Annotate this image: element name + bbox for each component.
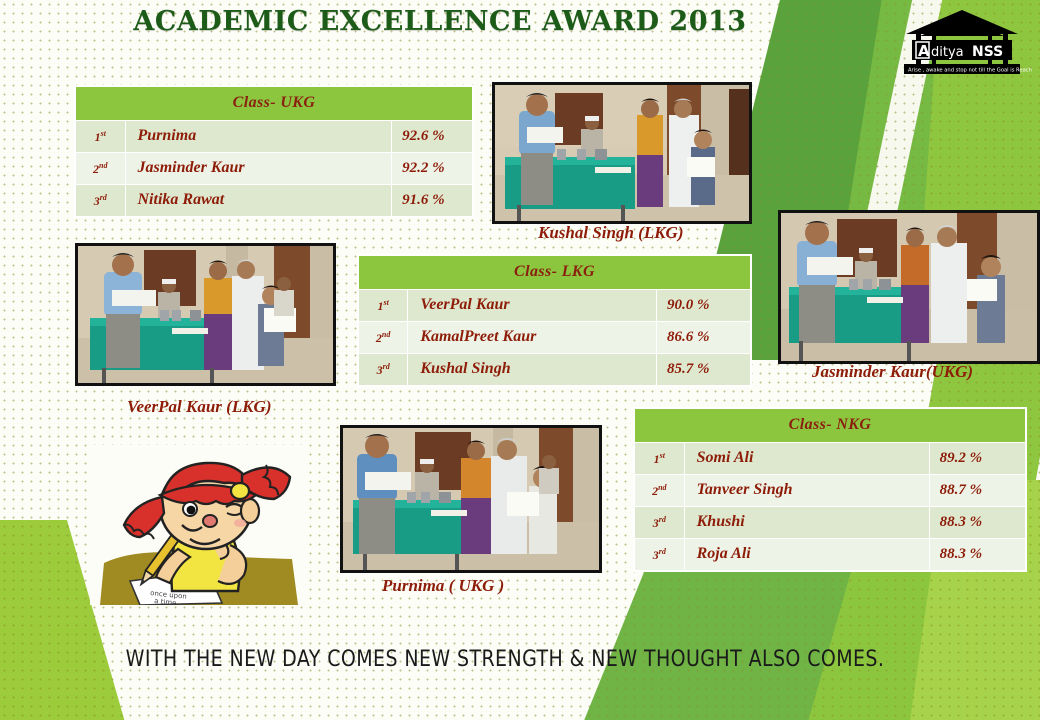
table-header-row: Class- NKG: [635, 409, 1026, 443]
photo-kushal-singh: [492, 82, 752, 224]
photo-veerpal-kaur: [75, 243, 336, 386]
caption-kushal-singh: Kushal Singh (LKG): [538, 223, 684, 243]
name-cell: KamalPreet Kaur: [408, 322, 657, 354]
table-row: 2nd Tanveer Singh 88.7 %: [635, 475, 1026, 507]
caption-jasminder-kaur: Jasminder Kaur(UKG): [812, 362, 973, 382]
table-row: 1st VeerPal Kaur 90.0 %: [359, 290, 751, 322]
rank-cell: 2nd: [359, 322, 408, 354]
percent-cell: 85.7 %: [656, 354, 750, 386]
footer-quote: WITH THE NEW DAY COMES NEW STRENGTH & NE…: [0, 646, 1010, 671]
table-header-ukg: Class- UKG: [76, 87, 473, 121]
table-row: 1st Somi Ali 89.2 %: [635, 443, 1026, 475]
poster-canvas: ACADEMIC EXCELLENCE AWARD 2013 A ditya N…: [0, 0, 1040, 720]
rank-cell: 2nd: [76, 153, 126, 185]
caption-veerpal-kaur: VeerPal Kaur (LKG): [127, 397, 272, 417]
table-row: 1st Purnima 92.6 %: [76, 121, 473, 153]
table-header-lkg: Class- LKG: [359, 256, 751, 290]
aditya-nss-logo: A ditya NSS Arise , awake and stop not t…: [892, 4, 1032, 80]
percent-cell: 88.3 %: [929, 539, 1025, 571]
page-title: ACADEMIC EXCELLENCE AWARD 2013: [0, 6, 880, 37]
table-header-row: Class- UKG: [76, 87, 473, 121]
percent-cell: 91.6 %: [392, 185, 473, 217]
table-header-nkg: Class- NKG: [635, 409, 1026, 443]
percent-cell: 86.6 %: [656, 322, 750, 354]
rank-cell: 3rd: [76, 185, 126, 217]
name-cell: Jasminder Kaur: [125, 153, 392, 185]
table-row: 3rd Roja Ali 88.3 %: [635, 539, 1026, 571]
girl-writing-clipart: once upon a time: [90, 445, 308, 605]
table-row: 3rd Khushi 88.3 %: [635, 507, 1026, 539]
table-header-row: Class- LKG: [359, 256, 751, 290]
name-cell: Khushi: [684, 507, 929, 539]
table-class-ukg: Class- UKG 1st Purnima 92.6 % 2nd Jasmin…: [75, 86, 473, 217]
svg-text:NSS: NSS: [972, 44, 1003, 60]
table-row: 3rd Kushal Singh 85.7 %: [359, 354, 751, 386]
table-class-nkg: Class- NKG 1st Somi Ali 89.2 % 2nd Tanve…: [634, 408, 1026, 571]
name-cell: Nitika Rawat: [125, 185, 392, 217]
percent-cell: 90.0 %: [656, 290, 750, 322]
name-cell: Somi Ali: [684, 443, 929, 475]
table-row: 2nd KamalPreet Kaur 86.6 %: [359, 322, 751, 354]
caption-purnima: Purnima ( UKG ): [382, 576, 504, 596]
percent-cell: 89.2 %: [929, 443, 1025, 475]
rank-cell: 3rd: [359, 354, 408, 386]
rank-cell: 1st: [635, 443, 685, 475]
table-row: 3rd Nitika Rawat 91.6 %: [76, 185, 473, 217]
svg-text:a time: a time: [154, 597, 177, 605]
svg-text:ditya: ditya: [931, 45, 964, 60]
name-cell: VeerPal Kaur: [408, 290, 657, 322]
rank-cell: 1st: [359, 290, 408, 322]
photo-jasminder-kaur: [778, 210, 1040, 364]
name-cell: Kushal Singh: [408, 354, 657, 386]
name-cell: Roja Ali: [684, 539, 929, 571]
rank-cell: 1st: [76, 121, 126, 153]
percent-cell: 92.2 %: [392, 153, 473, 185]
rank-cell: 3rd: [635, 539, 685, 571]
percent-cell: 88.7 %: [929, 475, 1025, 507]
photo-purnima: [340, 425, 602, 573]
svg-text:A: A: [918, 42, 930, 60]
rank-cell: 2nd: [635, 475, 685, 507]
table-class-lkg: Class- LKG 1st VeerPal Kaur 90.0 % 2nd K…: [358, 255, 751, 386]
table-row: 2nd Jasminder Kaur 92.2 %: [76, 153, 473, 185]
name-cell: Tanveer Singh: [684, 475, 929, 507]
svg-text:Arise , awake and stop not til: Arise , awake and stop not till the Goal…: [908, 68, 1032, 74]
percent-cell: 92.6 %: [392, 121, 473, 153]
rank-cell: 3rd: [635, 507, 685, 539]
name-cell: Purnima: [125, 121, 392, 153]
percent-cell: 88.3 %: [929, 507, 1025, 539]
